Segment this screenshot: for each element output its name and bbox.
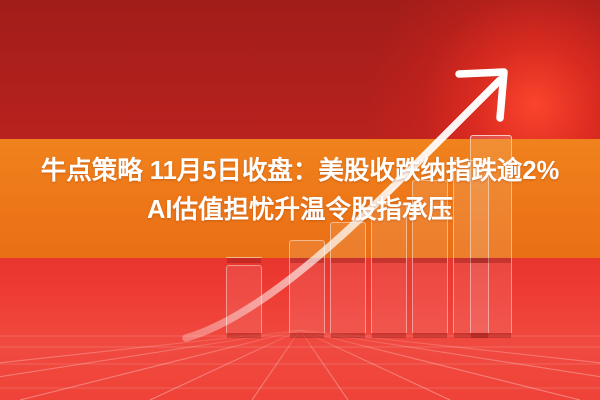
headline-line-2: AI估值担忧升温令股指承压: [0, 194, 600, 227]
headline: 牛点策略 11月5日收盘：美股收跌纳指跌逾2% AI估值担忧升温令股指承压: [0, 155, 600, 227]
headline-line-1: 牛点策略 11月5日收盘：美股收跌纳指跌逾2%: [0, 155, 600, 188]
news-banner: 牛点策略 11月5日收盘：美股收跌纳指跌逾2% AI估值担忧升温令股指承压: [0, 0, 600, 400]
